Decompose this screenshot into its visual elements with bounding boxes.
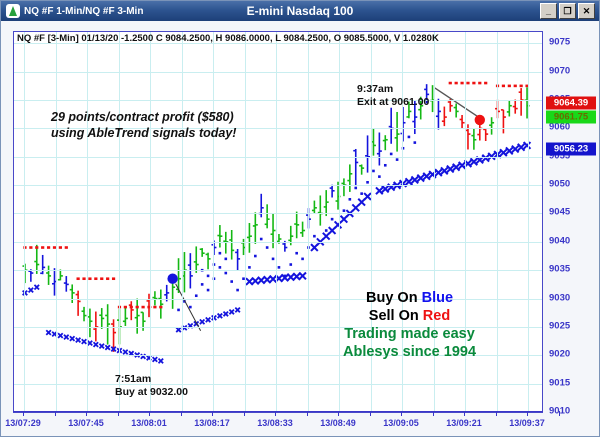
price-axis-label: 9070: [549, 65, 570, 76]
time-axis-tick: [401, 411, 402, 416]
legend-buy-prefix: Buy On: [366, 290, 422, 306]
legend-sell-prefix: Sell On: [369, 308, 423, 324]
time-axis-tick: [559, 411, 560, 416]
time-axis-label: 13/08:49: [320, 418, 356, 428]
gridline-vertical: [56, 32, 57, 412]
strategy-legend: Buy On Blue Sell On Red Trading made eas…: [343, 289, 476, 361]
window-titlebar: NQ #F 1-Min/NQ #F 3-Min E-mini Nasdaq 10…: [1, 1, 599, 21]
gridline-vertical: [339, 32, 340, 412]
chart-area: NQ #F [3-Min] 01/13/20 -1.2500 C 9084.25…: [5, 25, 597, 434]
price-axis-label: 9045: [549, 207, 570, 218]
entry-price-text: Buy at 9032.00: [115, 386, 188, 399]
quote-readout: NQ #F [3-Min] 01/13/20 -1.2500 C 9084.25…: [17, 33, 439, 44]
time-axis-label: 13/09:05: [383, 418, 419, 428]
time-axis-tick: [338, 411, 339, 416]
gridline-horizontal: [14, 157, 542, 158]
time-axis-label: 13/08:01: [131, 418, 167, 428]
time-axis-label: 13/08:17: [194, 418, 230, 428]
time-axis-tick: [370, 411, 371, 416]
legend-tagline-1: Trading made easy: [343, 325, 476, 343]
profit-annotation: 29 points/contract profit ($580) using A…: [51, 109, 236, 141]
time-axis-tick: [275, 411, 276, 416]
gridline-vertical: [213, 32, 214, 412]
window-controls: _ ❐ ✕: [540, 3, 597, 19]
gridline-vertical: [276, 32, 277, 412]
gridline-vertical: [308, 32, 309, 412]
time-axis-tick: [149, 411, 150, 416]
time-axis-tick: [181, 411, 182, 416]
gridline-horizontal: [14, 185, 542, 186]
entry-annotation: 7:51am Buy at 9032.00: [115, 373, 188, 399]
gridline-vertical: [24, 32, 25, 412]
price-axis-label: 9040: [549, 235, 570, 246]
gridline-vertical: [245, 32, 246, 412]
time-axis-tick: [118, 411, 119, 416]
profit-line-2: using AbleTrend signals today!: [51, 125, 236, 141]
time-axis-label: 13/07:45: [68, 418, 104, 428]
entry-time: 7:51am: [115, 373, 188, 386]
price-axis-label: 9035: [549, 264, 570, 275]
legend-sell-color-word: Red: [423, 308, 450, 324]
time-axis-tick: [527, 411, 528, 416]
time-axis-tick: [244, 411, 245, 416]
gridline-horizontal: [14, 213, 542, 214]
price-axis-label: 9025: [549, 320, 570, 331]
gridline-vertical: [87, 32, 88, 412]
gridline-horizontal: [14, 100, 542, 101]
gridline-horizontal: [14, 72, 542, 73]
time-axis-tick: [433, 411, 434, 416]
gridline-horizontal: [14, 270, 542, 271]
time-axis-label: 13/07:29: [5, 418, 41, 428]
price-axis[interactable]: 9075907090659060905590509045904090359030…: [545, 31, 597, 411]
price-axis-label: 9020: [549, 349, 570, 360]
chart-window: NQ #F 1-Min/NQ #F 3-Min E-mini Nasdaq 10…: [0, 0, 600, 437]
maximize-icon: ❐: [560, 4, 575, 18]
legend-tagline-2: Ablesys since 1994: [343, 343, 476, 361]
price-axis-label: 9050: [549, 179, 570, 190]
gridline-horizontal: [14, 384, 542, 385]
price-axis-label: 9015: [549, 377, 570, 388]
gridline-vertical: [182, 32, 183, 412]
time-axis-tick: [23, 411, 24, 416]
legend-buy-color-word: Blue: [422, 290, 453, 306]
time-axis-tick: [86, 411, 87, 416]
maximize-button[interactable]: ❐: [559, 3, 576, 19]
gridline-vertical: [119, 32, 120, 412]
last-price-badge: 9061.75: [546, 111, 596, 124]
close-icon: ✕: [579, 4, 594, 18]
window-title-left: NQ #F 1-Min/NQ #F 3-Min: [24, 6, 143, 17]
time-axis[interactable]: 13/07:2913/07:4513/08:0113/08:1713/08:33…: [13, 411, 543, 434]
time-axis-tick: [464, 411, 465, 416]
exit-annotation: 9:37am Exit at 9061.00: [357, 83, 429, 109]
time-axis-label: 13/09:37: [509, 418, 545, 428]
minimize-button[interactable]: _: [540, 3, 557, 19]
close-button[interactable]: ✕: [578, 3, 595, 19]
abletrend-logo-icon: [6, 4, 20, 18]
time-axis-tick: [496, 411, 497, 416]
gridline-horizontal: [14, 242, 542, 243]
gridline-vertical: [150, 32, 151, 412]
legend-sell-on-red: Sell On Red: [343, 307, 476, 325]
price-axis-label: 9075: [549, 37, 570, 48]
bid-price-badge: 9056.23: [546, 142, 596, 155]
time-axis-label: 13/08:33: [257, 418, 293, 428]
ask-price-badge: 9064.39: [546, 96, 596, 109]
time-axis-tick: [307, 411, 308, 416]
exit-time: 9:37am: [357, 83, 429, 96]
legend-buy-on-blue: Buy On Blue: [343, 289, 476, 307]
time-axis-tick: [212, 411, 213, 416]
price-axis-label: 9030: [549, 292, 570, 303]
time-axis-label: 13/09:21: [446, 418, 482, 428]
time-axis-tick: [55, 411, 56, 416]
gridline-vertical: [528, 32, 529, 412]
exit-price-text: Exit at 9061.00: [357, 96, 429, 109]
profit-line-1: 29 points/contract profit ($580): [51, 109, 236, 125]
gridline-vertical: [497, 32, 498, 412]
minimize-icon: _: [541, 4, 556, 18]
